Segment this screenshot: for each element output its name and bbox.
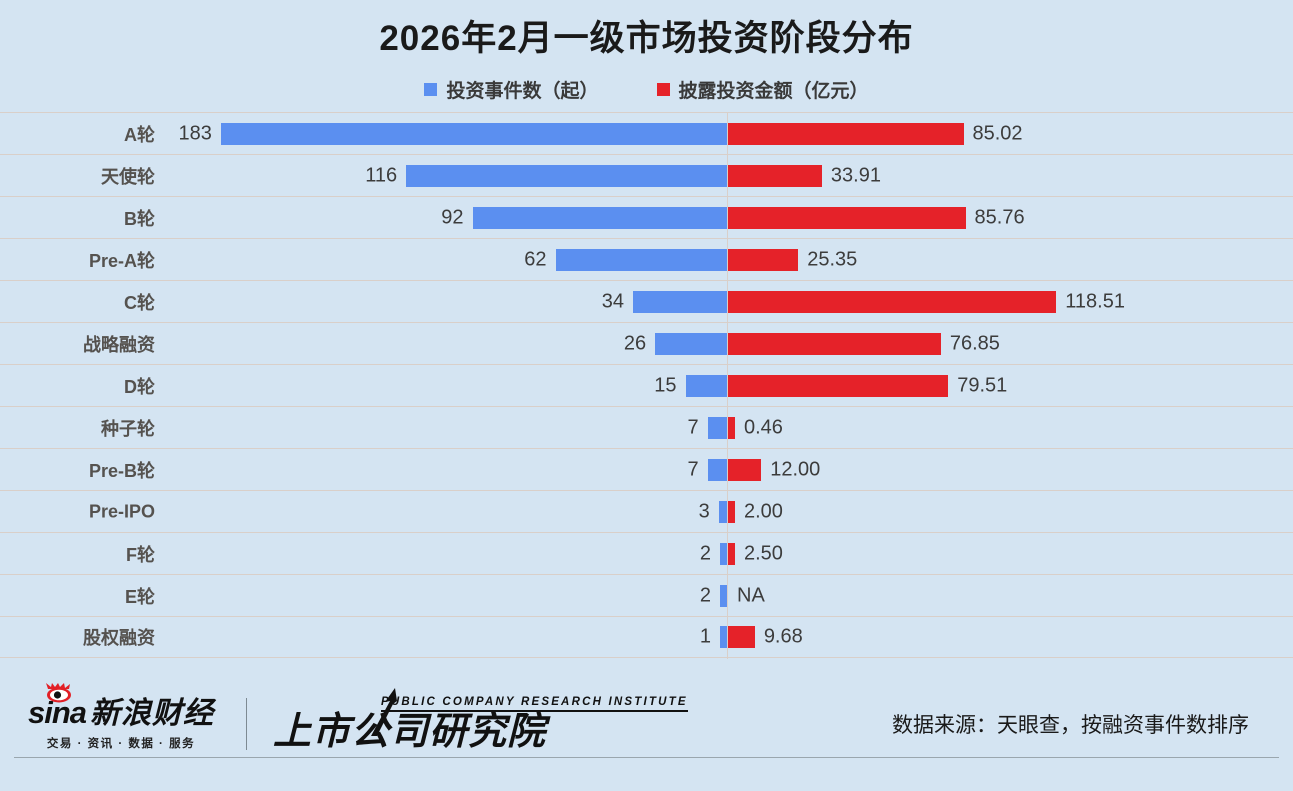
- bar-events[interactable]: [708, 459, 727, 481]
- bar-amount[interactable]: [728, 459, 761, 481]
- category-label: Pre-B轮: [0, 457, 155, 483]
- category-label: 种子轮: [0, 415, 155, 441]
- bar-amount[interactable]: [728, 417, 735, 439]
- legend-label-amount: 披露投资金额（亿元）: [679, 76, 869, 103]
- value-label-events: 62: [524, 248, 546, 271]
- bar-amount[interactable]: [728, 626, 755, 648]
- bar-events[interactable]: [708, 417, 727, 439]
- chart-row: A轮18385.02: [0, 112, 1293, 154]
- chart-row: Pre-IPO32.00: [0, 490, 1293, 532]
- category-label: F轮: [0, 541, 155, 567]
- value-label-amount: 118.51: [1065, 290, 1125, 313]
- bar-amount[interactable]: [728, 207, 966, 229]
- bar-amount[interactable]: [728, 501, 735, 523]
- bar-events[interactable]: [221, 123, 727, 145]
- category-label: B轮: [0, 205, 155, 231]
- source-note: 数据来源：天眼查，按融资事件数排序: [892, 709, 1249, 739]
- chart-plot-wrapper: A轮18385.02天使轮11633.91B轮9285.76Pre-A轮6225…: [0, 112, 1293, 672]
- value-label-events: 183: [178, 122, 211, 145]
- value-label-amount: 2.50: [744, 542, 783, 565]
- value-label-amount: 33.91: [831, 164, 881, 187]
- category-label: 天使轮: [0, 163, 155, 189]
- page-title: 2026年2月一级市场投资阶段分布: [0, 0, 1293, 60]
- footer-divider-line: [14, 757, 1279, 758]
- bar-events[interactable]: [633, 291, 727, 313]
- sina-eye-icon: [46, 683, 76, 703]
- legend-item-amount[interactable]: 披露投资金额（亿元）: [657, 76, 869, 103]
- value-label-amount: 2.00: [744, 500, 783, 523]
- pcri-logo: PUBLIC COMPANY RESEARCH INSTITUTE 上市公司研究…: [273, 696, 688, 753]
- sina-cn-name: 新浪财经: [90, 699, 214, 729]
- category-label: D轮: [0, 373, 155, 399]
- value-label-amount: 85.02: [973, 122, 1023, 145]
- bar-events[interactable]: [720, 585, 727, 607]
- value-label-events: 3: [699, 500, 710, 523]
- square-icon: [657, 83, 670, 96]
- chart-row: 种子轮70.46: [0, 406, 1293, 448]
- value-label-amount: 0.46: [744, 416, 783, 439]
- bar-events[interactable]: [655, 333, 727, 355]
- value-label-events: 92: [441, 206, 463, 229]
- chart-row: 天使轮11633.91: [0, 154, 1293, 196]
- value-label-events: 7: [688, 458, 699, 481]
- sina-finance-logo: sina 新浪财经 交易 · 资讯 · 数据 · 服务: [28, 697, 214, 751]
- chart-row: Pre-A轮6225.35: [0, 238, 1293, 280]
- value-label-amount: 25.35: [807, 248, 857, 271]
- value-label-events: 116: [365, 164, 397, 187]
- category-label: Pre-A轮: [0, 247, 155, 273]
- value-label-events: 2: [700, 542, 711, 565]
- chart-footer: sina 新浪财经 交易 · 资讯 · 数据 · 服务 PUBLIC COMPA…: [0, 691, 1293, 791]
- value-label-amount: 85.76: [975, 206, 1025, 229]
- value-label-amount: NA: [737, 584, 765, 607]
- value-label-amount: 76.85: [950, 332, 1000, 355]
- chart-row: C轮34118.51: [0, 280, 1293, 322]
- category-label: 股权融资: [0, 624, 155, 650]
- value-label-events: 34: [602, 290, 624, 313]
- bar-amount[interactable]: [728, 123, 964, 145]
- bar-events[interactable]: [556, 249, 727, 271]
- bar-amount[interactable]: [728, 375, 948, 397]
- chart-row: 股权融资19.68: [0, 616, 1293, 658]
- bar-events[interactable]: [686, 375, 727, 397]
- pcri-chinese-name: 上市公司研究院: [273, 713, 688, 753]
- bar-amount[interactable]: [728, 291, 1056, 313]
- category-label: A轮: [0, 121, 155, 147]
- value-label-amount: 9.68: [764, 626, 803, 649]
- bar-events[interactable]: [719, 501, 727, 523]
- bar-amount[interactable]: [728, 249, 798, 271]
- chart-row: D轮1579.51: [0, 364, 1293, 406]
- bar-events[interactable]: [720, 626, 727, 648]
- pcri-english-name: PUBLIC COMPANY RESEARCH INSTITUTE: [381, 696, 688, 712]
- bar-amount[interactable]: [728, 543, 735, 565]
- bar-events[interactable]: [406, 165, 727, 187]
- chart-row: F轮22.50: [0, 532, 1293, 574]
- category-label: C轮: [0, 289, 155, 315]
- sina-tagline: 交易 · 资讯 · 数据 · 服务: [28, 735, 214, 751]
- category-label: E轮: [0, 583, 155, 609]
- value-label-events: 15: [654, 374, 676, 397]
- zero-axis-line: [727, 112, 728, 659]
- legend-item-events[interactable]: 投资事件数（起）: [424, 76, 598, 103]
- bar-amount[interactable]: [728, 165, 822, 187]
- chart-row: Pre-B轮712.00: [0, 448, 1293, 490]
- value-label-events: 7: [688, 416, 699, 439]
- category-label: 战略融资: [0, 331, 155, 357]
- value-label-amount: 79.51: [957, 374, 1007, 397]
- value-label-events: 1: [700, 626, 711, 649]
- chart-plot-area: A轮18385.02天使轮11633.91B轮9285.76Pre-A轮6225…: [0, 112, 1293, 658]
- upward-arrow-icon: [365, 686, 399, 740]
- chart-legend: 投资事件数（起） 披露投资金额（亿元）: [0, 76, 1293, 102]
- square-icon: [424, 83, 437, 96]
- bar-events[interactable]: [720, 543, 727, 565]
- chart-row: E轮2NA: [0, 574, 1293, 616]
- category-label: Pre-IPO: [0, 501, 155, 522]
- bar-amount[interactable]: [728, 333, 941, 355]
- value-label-events: 2: [700, 584, 711, 607]
- chart-row: 战略融资2676.85: [0, 322, 1293, 364]
- legend-label-events: 投资事件数（起）: [446, 76, 598, 103]
- value-label-amount: 12.00: [770, 458, 820, 481]
- value-label-events: 26: [624, 332, 646, 355]
- footer-divider-vertical: [246, 698, 247, 750]
- bar-events[interactable]: [473, 207, 727, 229]
- chart-row: B轮9285.76: [0, 196, 1293, 238]
